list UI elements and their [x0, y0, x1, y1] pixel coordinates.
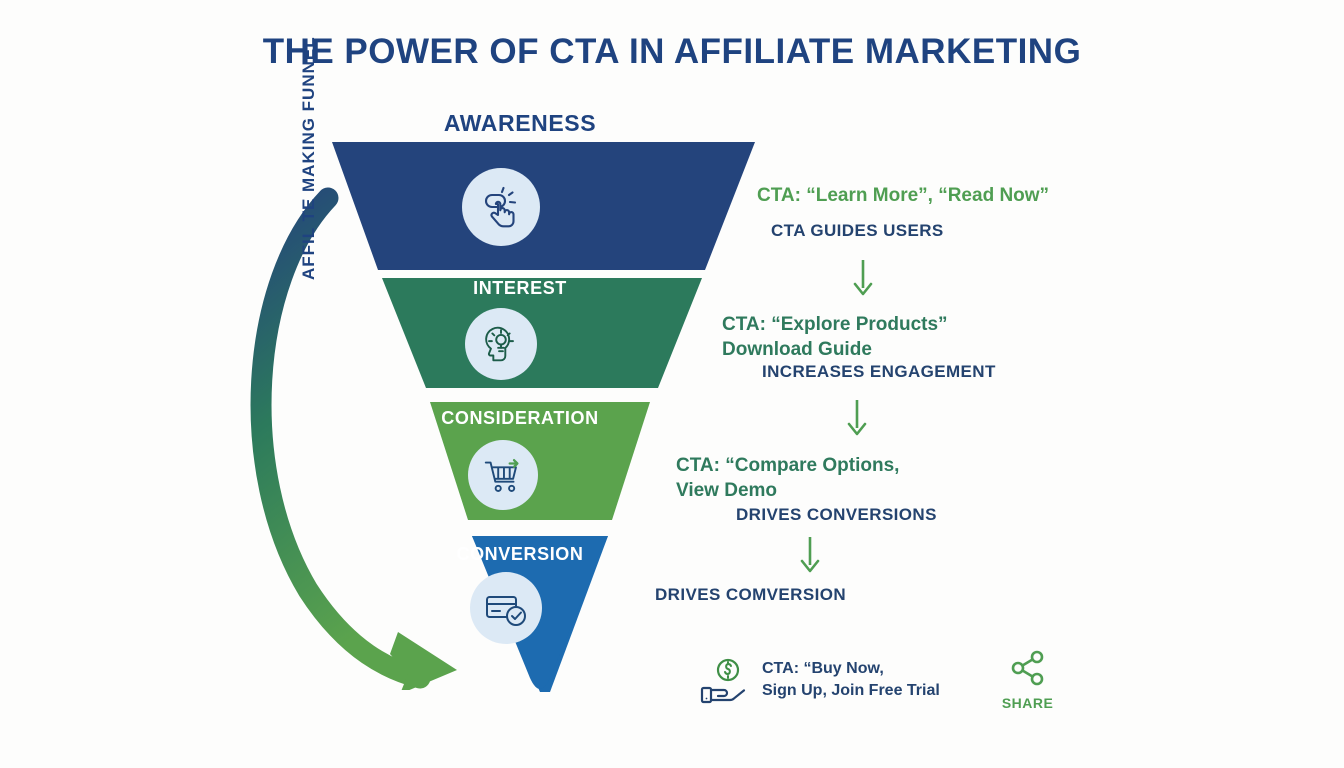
page-title: THE POWER OF CTA IN AFFILIATE MARKETING — [0, 32, 1344, 72]
credit-card-check-icon — [470, 572, 542, 644]
result-text-awareness: CTA GUIDES USERS — [771, 221, 944, 241]
funnel-axis-label: AFFIL TE MAKING FUNNEL — [299, 0, 319, 280]
bottom-cta-row: CTA: “Buy Now, Sign Up, Join Free Trial … — [700, 648, 1053, 711]
shopping-cart-arrow-icon — [468, 440, 538, 510]
funnel-diagram: AWARENESS INTEREST CONSIDERATION CONVERS… — [250, 100, 790, 720]
funnel-stage-label-awareness: AWARENESS — [250, 110, 790, 137]
hand-holding-dollar-icon — [700, 656, 756, 704]
click-finger-icon — [462, 168, 540, 246]
funnel-stage-shape-awareness — [332, 142, 755, 270]
flow-arrow-2 — [842, 398, 872, 436]
share-nodes-icon[interactable] — [1008, 648, 1048, 688]
funnel-stage-label-interest: INTEREST — [250, 278, 790, 299]
funnel-stage-label-consideration: CONSIDERATION — [250, 408, 790, 429]
bottom-cta-text: CTA: “Buy Now, Sign Up, Join Free Trial — [762, 658, 940, 702]
share-label: SHARE — [1002, 695, 1054, 711]
result-text-interest: INCREASES ENGAGEMENT — [762, 362, 996, 382]
flow-arrow-3 — [795, 535, 825, 573]
result-text-consideration: DRIVES CONVERSIONS — [736, 505, 937, 525]
result-text-conversion: DRIVES COMVERSION — [655, 585, 846, 605]
flow-arrow-1 — [848, 258, 878, 296]
infographic-canvas: THE POWER OF CTA IN AFFILIATE MARKETING … — [0, 0, 1344, 768]
cta-text-awareness: CTA: “Learn More”, “Read Now” — [757, 183, 1049, 208]
share-block[interactable]: SHARE — [1002, 648, 1054, 711]
cta-text-interest: CTA: “Explore Products” Download Guide — [722, 312, 948, 362]
cta-text-consideration: CTA: “Compare Options, View Demo — [676, 453, 899, 503]
head-lightbulb-icon — [465, 308, 537, 380]
funnel-stage-label-conversion: CONVERSION — [250, 544, 790, 565]
